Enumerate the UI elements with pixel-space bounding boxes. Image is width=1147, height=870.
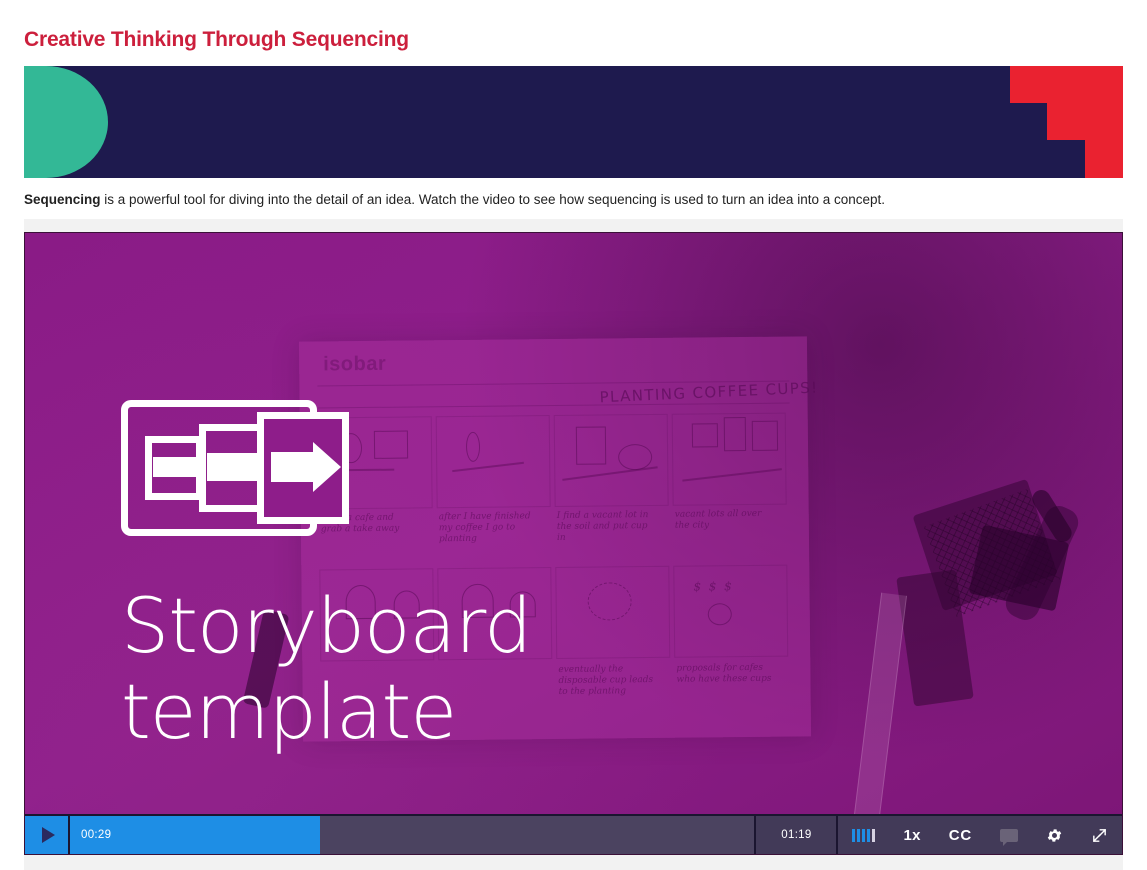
play-icon <box>42 827 55 843</box>
playback-speed-button[interactable]: 1x <box>889 816 934 854</box>
intro-body: is a powerful tool for diving into the d… <box>101 192 886 207</box>
volume-bar <box>862 829 865 842</box>
sketch-note: vacant lots all over the city <box>675 509 771 532</box>
settings-button[interactable] <box>1032 816 1077 854</box>
play-button[interactable] <box>25 816 70 854</box>
sketch-note: after I have finished my coffee I go to … <box>439 511 535 545</box>
speech-bubble-icon <box>1000 829 1018 842</box>
paper-rule <box>318 403 790 409</box>
comment-button[interactable] <box>986 816 1032 854</box>
intro-paragraph: Sequencing is a powerful tool for diving… <box>24 190 1123 209</box>
hero-banner <box>24 66 1123 178</box>
progress-scrubber[interactable]: 00:29 <box>70 816 754 854</box>
sketch-ellipse <box>708 603 732 625</box>
volume-bar <box>852 829 855 842</box>
seq-arrow-large-head <box>313 442 341 492</box>
video-headline: Storyboard template <box>121 583 531 755</box>
staircase-icon <box>1010 66 1123 178</box>
sketch-building <box>724 417 746 451</box>
video-frame: isobar PLANTING COFFEE CUPS! <box>25 233 1122 854</box>
sketch-note: I find a vacant lot in the soil and put … <box>557 510 653 544</box>
half-circle-icon <box>24 66 108 178</box>
video-headline-line-2: template <box>121 669 531 755</box>
sketch-currency: $ $ $ <box>693 581 783 593</box>
staircase-step-3 <box>1085 140 1123 178</box>
volume-button[interactable] <box>838 816 889 854</box>
sketch-building <box>752 421 778 451</box>
seq-arrow-medium <box>207 453 259 481</box>
separator-strip-top <box>24 219 1123 232</box>
page-title: Creative Thinking Through Sequencing <box>24 27 409 53</box>
isobar-logo: isobar <box>323 353 386 377</box>
fullscreen-button[interactable] <box>1077 816 1122 854</box>
control-buttons-group: 1x CC <box>838 816 1122 854</box>
current-time-label: 00:29 <box>81 829 111 841</box>
sketch-cup <box>576 426 606 464</box>
video-control-bar[interactable]: 00:29 01:19 1x CC <box>25 814 1122 854</box>
sketch-figure <box>466 432 480 462</box>
duration-label: 01:19 <box>754 816 838 854</box>
fullscreen-expand-icon <box>1091 827 1108 844</box>
volume-bar <box>857 829 860 842</box>
video-player[interactable]: isobar PLANTING COFFEE CUPS! <box>24 232 1123 855</box>
gear-icon <box>1046 827 1063 844</box>
staircase-step-1 <box>1010 66 1123 103</box>
sketch-frame <box>374 431 408 459</box>
intro-lead: Sequencing <box>24 192 101 207</box>
sequencing-frames-arrow-icon <box>121 400 317 536</box>
volume-bar <box>867 829 870 842</box>
video-headline-line-1: Storyboard <box>121 583 531 669</box>
volume-bar <box>872 829 875 842</box>
captions-button[interactable]: CC <box>935 816 986 854</box>
volume-bars-icon <box>852 829 875 842</box>
staircase-step-2 <box>1047 103 1123 140</box>
separator-strip-bottom <box>24 855 1123 870</box>
storyboard-cell <box>436 415 551 508</box>
page-root: Creative Thinking Through Sequencing Seq… <box>0 0 1147 870</box>
sketch-note: proposals for cafes who have these cups <box>676 663 772 686</box>
seq-arrow-small <box>153 457 197 477</box>
sketch-building <box>692 423 718 447</box>
sketch-note: eventually the disposable cup leads to t… <box>558 664 654 698</box>
